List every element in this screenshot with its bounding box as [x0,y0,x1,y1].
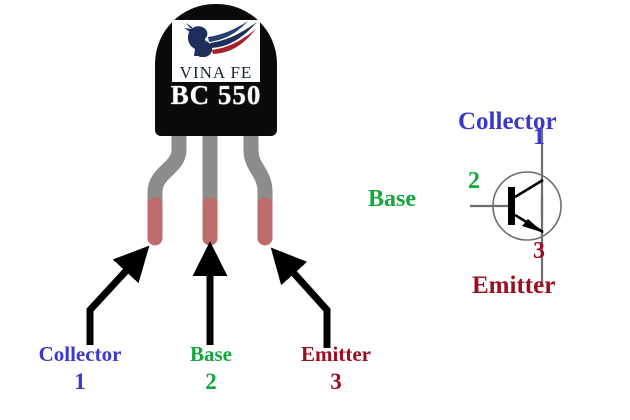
callout-arrows [0,230,400,360]
schematic-number-base: 2 [468,168,480,195]
pegasus-horse-logo-icon [172,20,260,62]
pin-label-collector-number: 1 [0,370,160,393]
arrow-emitter [282,260,327,348]
schematic-label-base: Base [368,186,416,213]
part-number-text: BC 550 [155,80,277,111]
transistor-package-group: VINA FE BC 550 [0,0,340,260]
schematic-symbol-group: Collector 1 Base 2 Emitter 3 [370,100,630,310]
pin-label-emitter-number: 3 [262,370,410,393]
arrow-collector [90,258,138,345]
symbol-base-bar [508,187,515,225]
schematic-number-emitter: 3 [533,238,545,265]
symbol-collector-slant [515,180,543,197]
brand-logo-box: VINA FE [172,20,260,82]
schematic-label-emitter: Emitter [472,272,555,300]
schematic-number-collector: 1 [533,124,545,151]
lead-emitter [251,128,265,210]
transistor-pinout-diagram: VINA FE BC 550 Collector 1 Base 2 Emitte… [0,0,630,420]
lead-collector [155,128,179,210]
pin-label-base-number: 2 [156,370,266,393]
